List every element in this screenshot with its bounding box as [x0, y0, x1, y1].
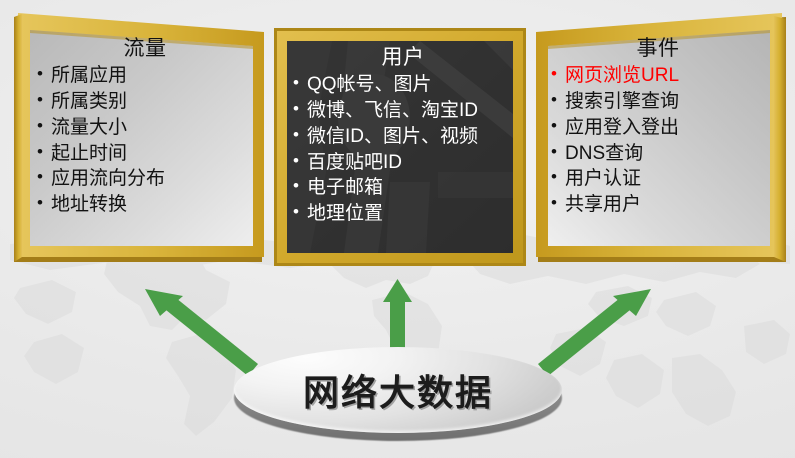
panel-title: 事件 [550, 37, 766, 63]
list-item: 搜索引擎查询 [550, 89, 766, 115]
panel-body: 流量 所属应用 所属类别 流量大小 起止时间 应用流向分布 地址转换 [36, 37, 254, 242]
list-item: DNS查询 [550, 141, 766, 167]
panel-item-list: 网页浏览URL 搜索引擎查询 应用登入登出 DNS查询 用户认证 共享用户 [550, 63, 766, 218]
list-item: 起止时间 [36, 141, 254, 167]
list-item: 电子邮箱 [292, 175, 514, 201]
panel-user[interactable]: 用户 QQ帐号、图片 微博、飞信、淘宝ID 微信ID、图片、视频 百度贴吧ID … [270, 22, 530, 270]
panel-title: 用户 [292, 46, 514, 72]
list-item: 微博、飞信、淘宝ID [292, 98, 514, 124]
list-item: 地理位置 [292, 201, 514, 227]
panel-item-list: 所属应用 所属类别 流量大小 起止时间 应用流向分布 地址转换 [36, 63, 254, 218]
panel-title: 流量 [36, 37, 254, 63]
list-item: 流量大小 [36, 115, 254, 141]
list-item: 所属类别 [36, 89, 254, 115]
list-item: QQ帐号、图片 [292, 72, 514, 98]
list-item: 地址转换 [36, 192, 254, 218]
list-item: 微信ID、图片、视频 [292, 124, 514, 150]
panel-item-list: QQ帐号、图片 微博、飞信、淘宝ID 微信ID、图片、视频 百度贴吧ID 电子邮… [292, 72, 514, 227]
panel-traffic[interactable]: 流量 所属应用 所属类别 流量大小 起止时间 应用流向分布 地址转换 [10, 5, 280, 267]
hero-title: 网络大数据 [228, 347, 568, 433]
panel-event[interactable]: 事件 网页浏览URL 搜索引擎查询 应用登入登出 DNS查询 用户认证 共享用户 [528, 5, 790, 267]
list-item: 所属应用 [36, 63, 254, 89]
hero-ellipse[interactable]: 网络大数据 [228, 343, 568, 451]
list-item: 应用登入登出 [550, 115, 766, 141]
slide-canvas: 流量 所属应用 所属类别 流量大小 起止时间 应用流向分布 地址转换 [0, 0, 795, 458]
list-item: 共享用户 [550, 192, 766, 218]
list-item: 网页浏览URL [550, 63, 766, 89]
list-item: 百度贴吧ID [292, 150, 514, 176]
list-item: 应用流向分布 [36, 166, 254, 192]
list-item: 用户认证 [550, 166, 766, 192]
panel-body: 用户 QQ帐号、图片 微博、飞信、淘宝ID 微信ID、图片、视频 百度贴吧ID … [292, 46, 514, 251]
panel-body: 事件 网页浏览URL 搜索引擎查询 应用登入登出 DNS查询 用户认证 共享用户 [550, 37, 766, 242]
